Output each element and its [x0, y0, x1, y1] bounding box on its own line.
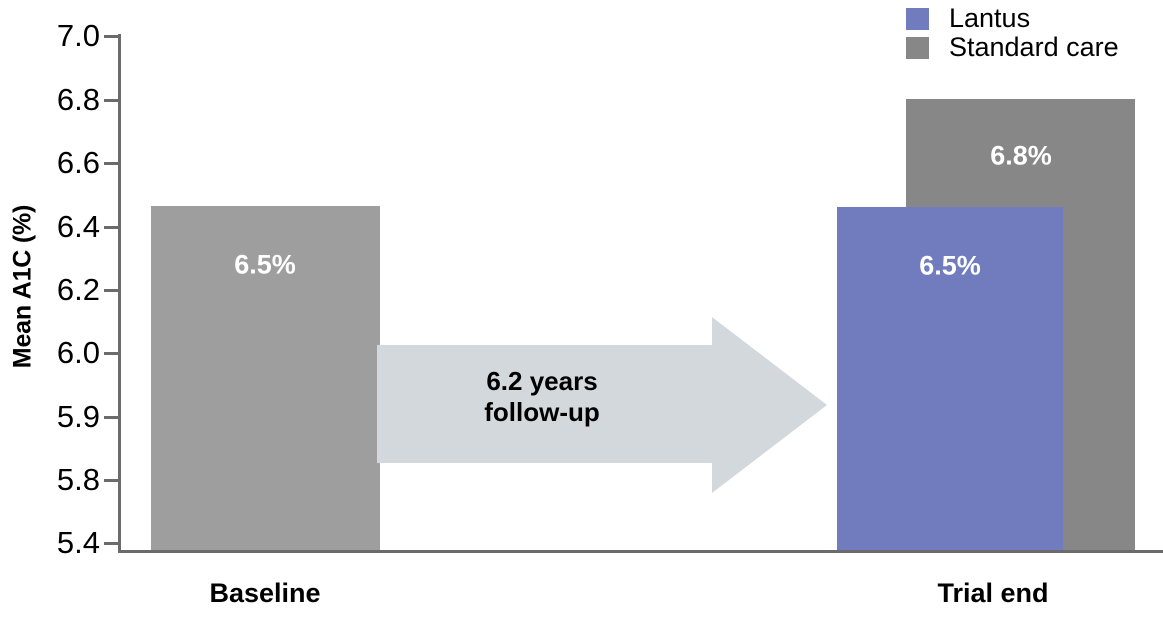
y-axis-tick-mark: [104, 99, 119, 102]
y-axis-tick-label: 6.0: [0, 337, 100, 368]
bar-value-label-baseline-standard-care: 6.5%: [234, 250, 296, 281]
y-axis-tick-label: 6.4: [0, 211, 100, 242]
y-axis-tick-mark: [104, 162, 119, 165]
legend-item-standard-care[interactable]: Standard care: [906, 33, 1119, 62]
chart-container: Mean A1C (%) 7.06.86.66.46.26.05.95.85.4…: [0, 0, 1163, 617]
y-axis-tick-mark: [104, 289, 119, 292]
legend-label-lantus: Lantus: [949, 5, 1030, 32]
y-axis-tick-label: 5.4: [0, 527, 100, 558]
chart-legend: Lantus Standard care: [906, 4, 1119, 62]
followup-arrow-label: 6.2 years follow-up: [377, 366, 707, 427]
bar-value-label-trial-end-standard-care: 6.8%: [990, 141, 1052, 172]
y-axis-tick-label: 6.2: [0, 274, 100, 305]
y-axis-tick-mark: [104, 542, 119, 545]
y-axis-tick-mark: [104, 416, 119, 419]
y-axis-tick-mark: [104, 226, 119, 229]
y-axis-tick-label: 6.8: [0, 84, 100, 115]
y-axis-tick-label: 6.6: [0, 147, 100, 178]
y-axis-tick-mark: [104, 352, 119, 355]
y-axis-tick-label: 7.0: [0, 20, 100, 51]
legend-item-lantus[interactable]: Lantus: [906, 4, 1119, 33]
x-axis-label-baseline: Baseline: [209, 578, 320, 609]
x-axis-label-trial-end: Trial end: [937, 578, 1048, 609]
y-axis-line: [118, 34, 121, 552]
y-axis-tick-mark: [104, 479, 119, 482]
x-axis-line: [118, 550, 1163, 553]
y-axis-tick-mark: [104, 35, 119, 38]
legend-label-standard-care: Standard care: [949, 34, 1119, 61]
legend-swatch-standard-care: [906, 37, 929, 59]
y-axis-tick-label: 5.8: [0, 464, 100, 495]
bar-value-label-trial-end-lantus: 6.5%: [919, 251, 981, 282]
y-axis-tick-label: 5.9: [0, 401, 100, 432]
legend-swatch-lantus: [906, 8, 929, 30]
